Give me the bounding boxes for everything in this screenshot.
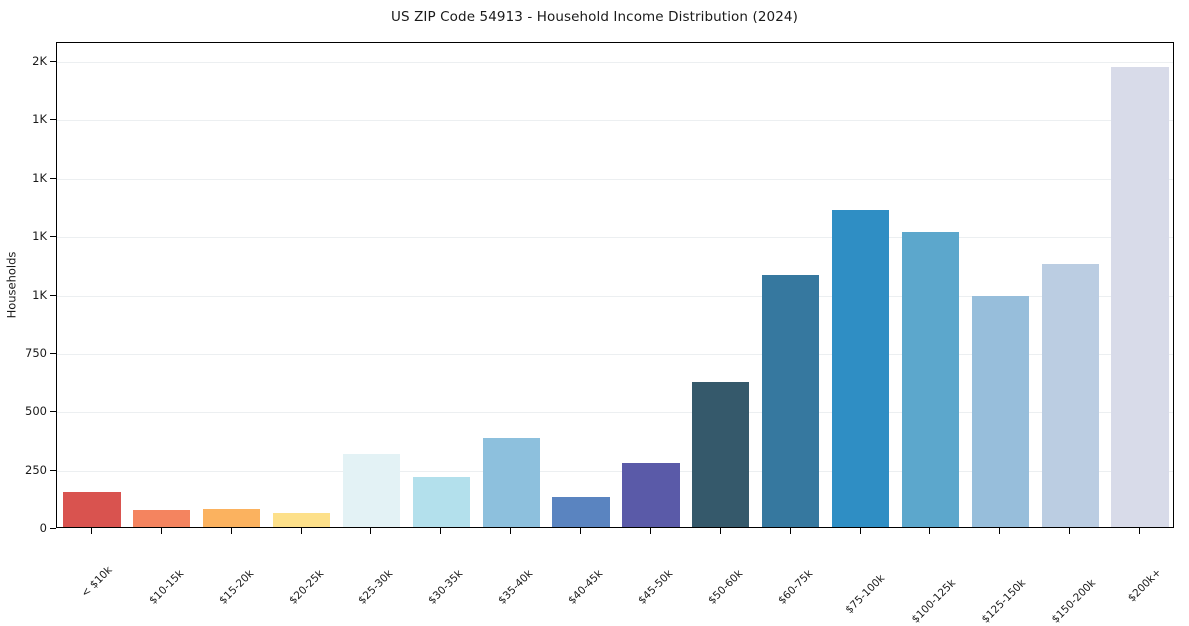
y-axis-label-text: Households <box>4 252 18 319</box>
bar-40-45k[interactable] <box>552 497 609 527</box>
x-tick-mark <box>1139 528 1140 534</box>
y-tick-label: 1K <box>0 171 47 185</box>
x-tick-mark <box>650 528 651 534</box>
bar-150-200k[interactable] <box>1042 264 1099 527</box>
x-tick-mark <box>91 528 92 534</box>
y-tick-label: 2K <box>0 54 47 68</box>
x-tick-label: $30-35k <box>457 537 496 576</box>
chart-figure: US ZIP Code 54913 - Household Income Dis… <box>0 0 1189 590</box>
bar-100-125k[interactable] <box>902 232 959 527</box>
bar-200k[interactable] <box>1111 67 1168 527</box>
x-tick-label: $100-125k <box>950 537 999 586</box>
x-tick-mark <box>231 528 232 534</box>
x-tick-label-text: $50-60k <box>706 568 745 607</box>
y-tick-label: 500 <box>0 404 47 418</box>
x-tick-mark <box>1069 528 1070 534</box>
bar-45-50k[interactable] <box>622 463 679 527</box>
x-tick-label-text: $100-125k <box>910 577 959 626</box>
y-tick-mark <box>50 353 56 354</box>
bar-series <box>57 43 1173 527</box>
bar-30-35k[interactable] <box>413 477 470 527</box>
x-tick-label-text: $150-200k <box>1050 577 1099 626</box>
y-tick-mark <box>50 411 56 412</box>
x-tick-label-text: $125-150k <box>980 577 1029 626</box>
y-tick-mark <box>50 470 56 471</box>
x-tick-mark <box>720 528 721 534</box>
x-tick-label-text: $30-35k <box>426 568 465 607</box>
chart-title: US ZIP Code 54913 - Household Income Dis… <box>0 9 1189 25</box>
x-tick-label-text: $35-40k <box>496 568 535 607</box>
x-tick-label-text: $10-15k <box>147 568 186 607</box>
x-tick-label: $20-25k <box>317 537 356 576</box>
x-tick-label: $150-200k <box>1090 537 1139 586</box>
bar-125-150k[interactable] <box>972 296 1029 527</box>
x-tick-mark <box>580 528 581 534</box>
x-tick-label: $25-30k <box>387 537 426 576</box>
y-tick-label: 1K <box>0 288 47 302</box>
bar-10k[interactable] <box>63 492 120 527</box>
bar-35-40k[interactable] <box>483 438 540 527</box>
y-tick-mark <box>50 236 56 237</box>
y-tick-label: 750 <box>0 346 47 360</box>
y-tick-mark <box>50 528 56 529</box>
y-tick-label: 0 <box>0 521 47 535</box>
bar-20-25k[interactable] <box>273 513 330 527</box>
x-tick-label: < $10k <box>106 537 142 573</box>
y-tick-mark <box>50 119 56 120</box>
x-tick-label-text: $60-75k <box>776 568 815 607</box>
x-tick-mark <box>999 528 1000 534</box>
x-tick-mark <box>161 528 162 534</box>
x-tick-label: $60-75k <box>806 537 845 576</box>
y-tick-label: 250 <box>0 463 47 477</box>
x-tick-label: $125-150k <box>1020 537 1069 586</box>
x-tick-label-text: $25-30k <box>357 568 396 607</box>
y-tick-mark <box>50 61 56 62</box>
bar-25-30k[interactable] <box>343 454 400 527</box>
x-tick-label: $45-50k <box>667 537 706 576</box>
x-tick-mark <box>370 528 371 534</box>
bar-60-75k[interactable] <box>762 275 819 527</box>
x-tick-label: $50-60k <box>736 537 775 576</box>
bar-15-20k[interactable] <box>203 509 260 527</box>
x-tick-label: $15-20k <box>247 537 286 576</box>
x-tick-label-text: $45-50k <box>636 568 675 607</box>
plot-area <box>56 42 1174 528</box>
x-tick-label-text: $20-25k <box>287 568 326 607</box>
x-tick-mark <box>301 528 302 534</box>
x-tick-label-text: < $10k <box>79 564 115 600</box>
x-tick-label-text: $75-100k <box>843 572 887 616</box>
x-tick-mark <box>440 528 441 534</box>
x-tick-label-text: $40-45k <box>566 568 605 607</box>
x-tick-label: $40-45k <box>597 537 636 576</box>
x-tick-label-text: $15-20k <box>217 568 256 607</box>
x-tick-mark <box>510 528 511 534</box>
y-tick-label: 1K <box>0 112 47 126</box>
x-tick-label-text: $200k+ <box>1126 566 1164 604</box>
bar-50-60k[interactable] <box>692 382 749 527</box>
bar-75-100k[interactable] <box>832 210 889 527</box>
bar-10-15k[interactable] <box>133 510 190 527</box>
x-tick-label: $35-40k <box>527 537 566 576</box>
x-tick-mark <box>929 528 930 534</box>
x-tick-label: $200k+ <box>1155 537 1189 575</box>
x-tick-label: $75-100k <box>878 537 922 581</box>
y-tick-mark <box>50 295 56 296</box>
y-tick-label: 1K <box>0 229 47 243</box>
y-tick-mark <box>50 178 56 179</box>
x-tick-mark <box>860 528 861 534</box>
x-tick-label: $10-15k <box>177 537 216 576</box>
x-tick-mark <box>790 528 791 534</box>
